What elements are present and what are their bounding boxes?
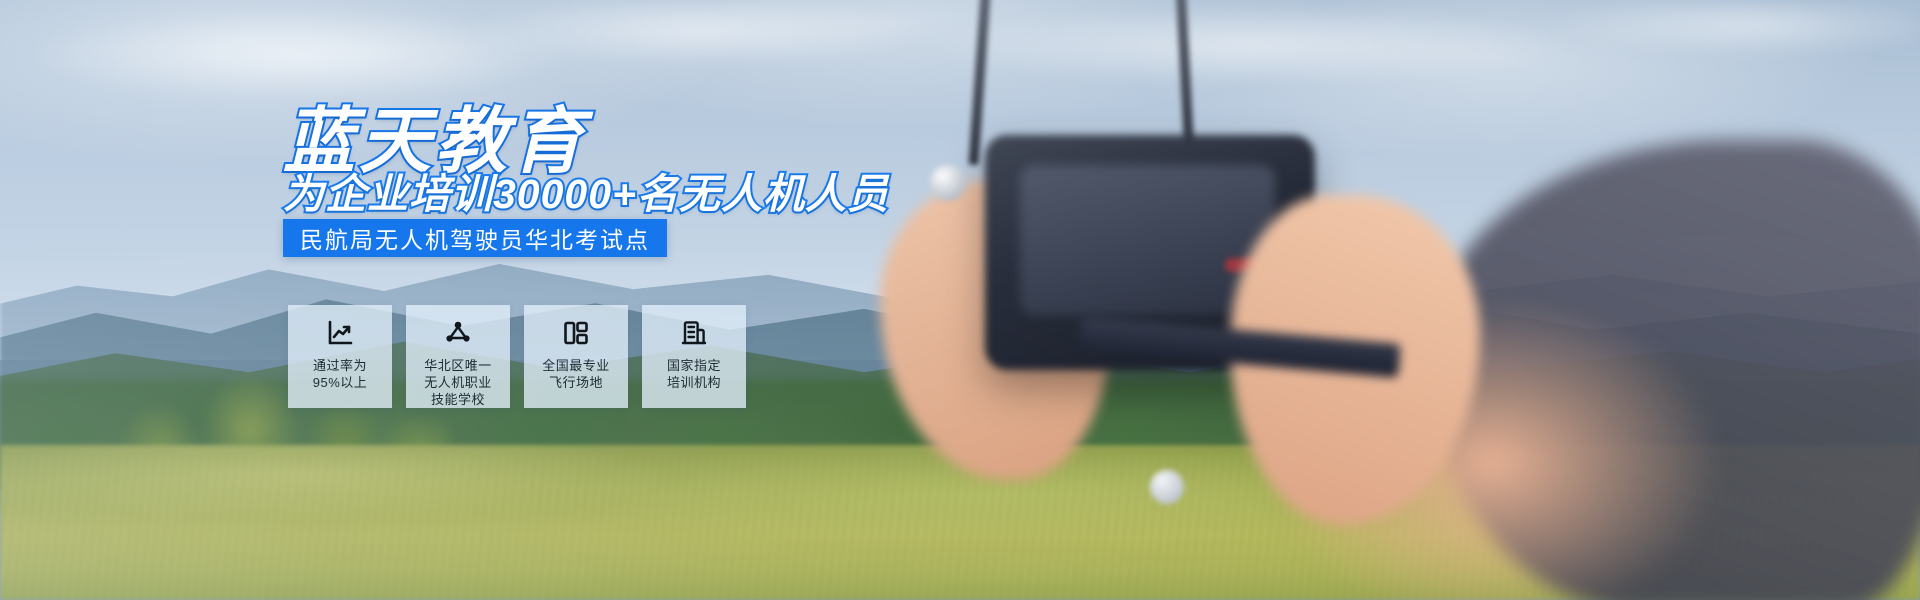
feature-card-vocational-school[interactable]: 华北区唯一 无人机职业 技能学校 [406, 305, 510, 408]
network-nodes-icon [443, 318, 473, 348]
card-line: 培训机构 [667, 374, 721, 391]
card-line: 国家指定 [667, 357, 721, 374]
feature-card-text: 华北区唯一 无人机职业 技能学校 [424, 357, 492, 408]
card-line: 技能学校 [424, 391, 492, 408]
card-line: 通过率为 [313, 357, 368, 374]
card-line: 95%以上 [313, 374, 368, 391]
hero-banner: 蓝天教育 为企业培训30000+名无人机人员 民航局无人机驾驶员华北考试点 通过… [0, 0, 1920, 600]
card-line: 华北区唯一 [424, 357, 492, 374]
exam-center-badge: 民航局无人机驾驶员华北考试点 [283, 219, 667, 257]
feature-card-pass-rate[interactable]: 通过率为 95%以上 [288, 305, 392, 408]
institution-building-icon [679, 318, 709, 348]
feature-card-national-institution[interactable]: 国家指定 培训机构 [642, 305, 746, 408]
feature-card-text: 全国最专业 飞行场地 [542, 357, 610, 391]
banner-content: 蓝天教育 为企业培训30000+名无人机人员 民航局无人机驾驶员华北考试点 通过… [0, 0, 1920, 600]
chart-line-up-icon [325, 318, 355, 348]
feature-card-list: 通过率为 95%以上 华北区唯一 无人机职业 技能学校 [288, 305, 746, 408]
layout-panels-icon [561, 318, 591, 348]
feature-card-flight-field[interactable]: 全国最专业 飞行场地 [524, 305, 628, 408]
card-line: 无人机职业 [424, 374, 492, 391]
card-line: 全国最专业 [542, 357, 610, 374]
feature-card-text: 通过率为 95%以上 [313, 357, 368, 391]
banner-subtitle: 为企业培训30000+名无人机人员 [283, 160, 889, 220]
feature-card-text: 国家指定 培训机构 [667, 357, 721, 391]
card-line: 飞行场地 [542, 374, 610, 391]
